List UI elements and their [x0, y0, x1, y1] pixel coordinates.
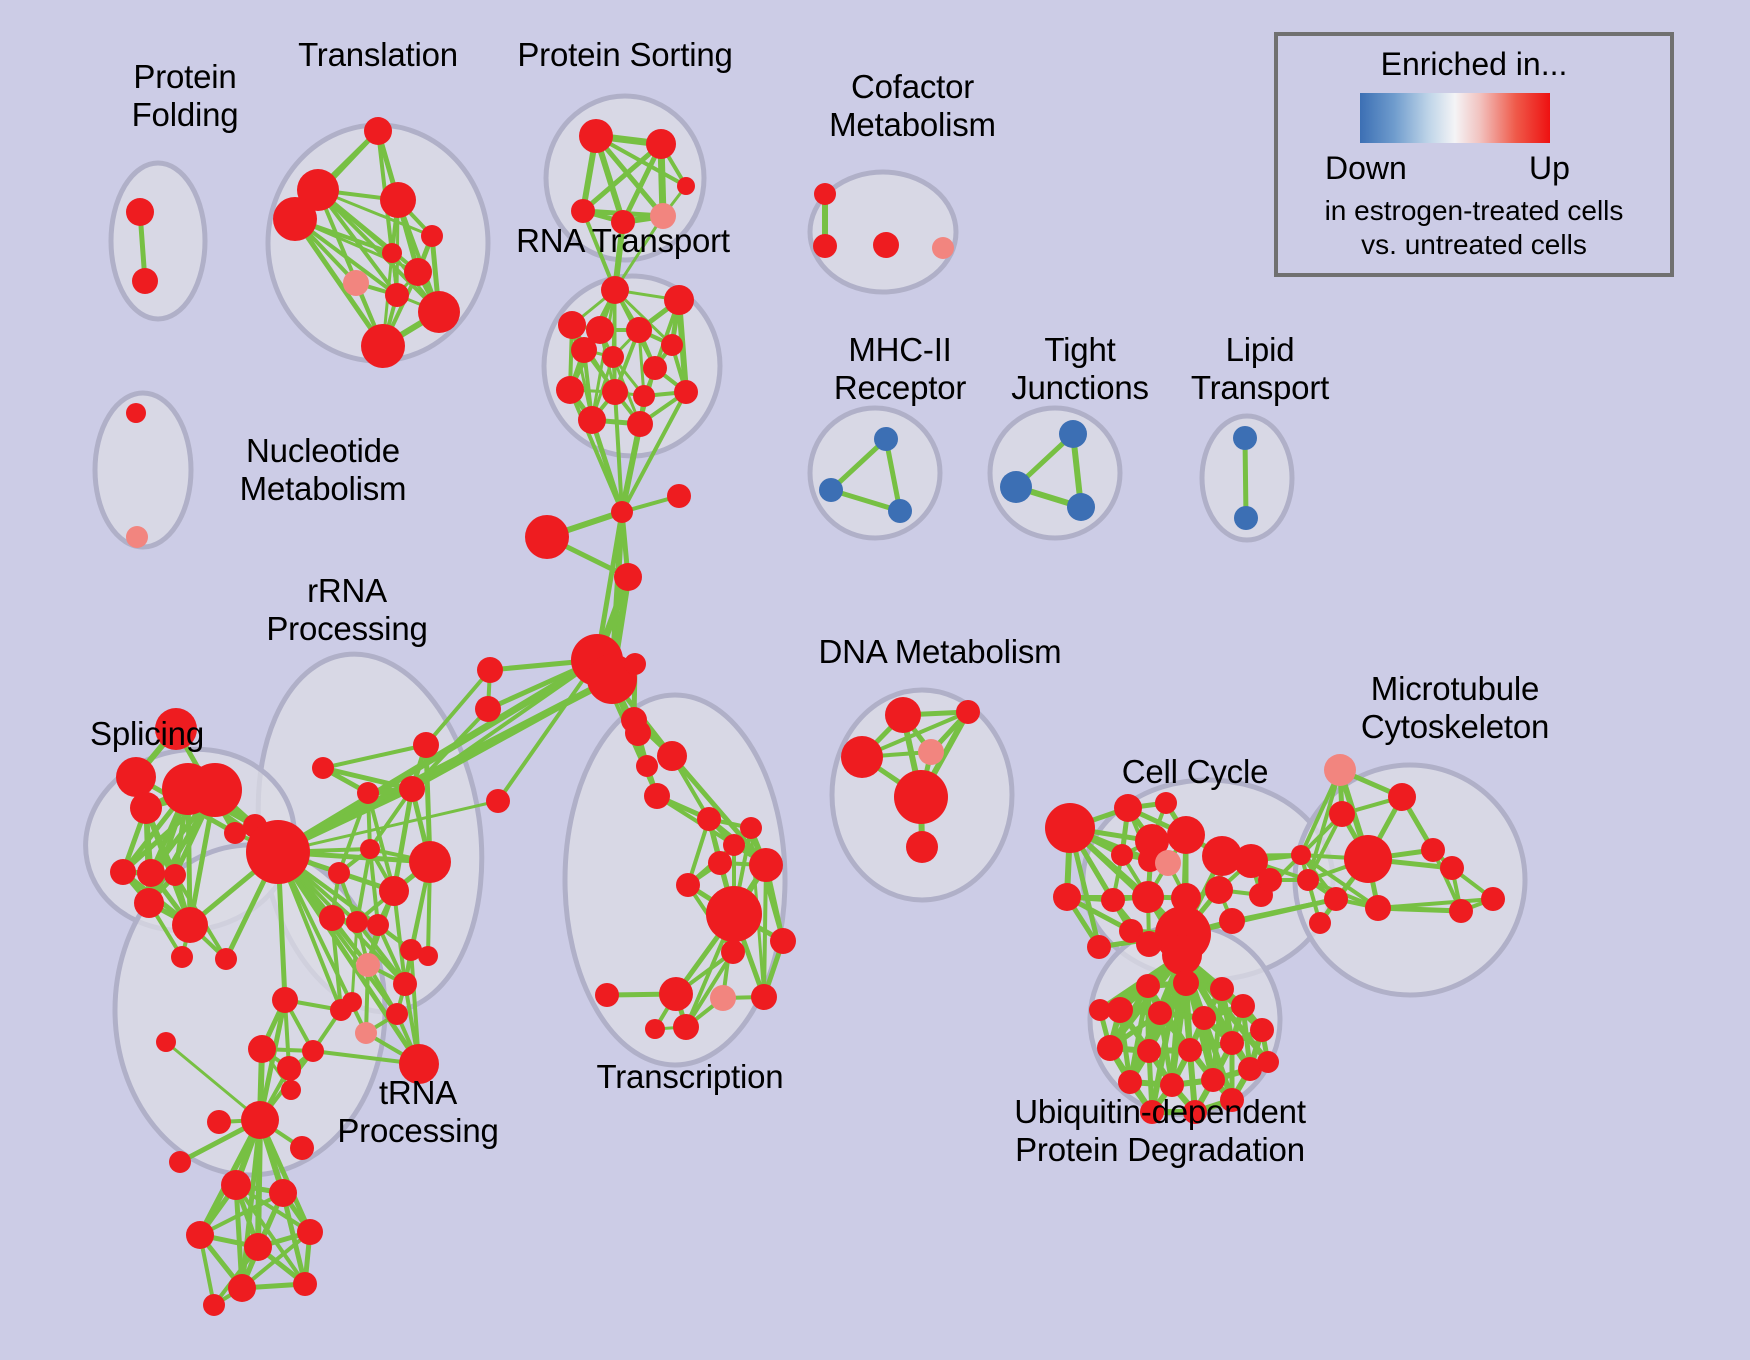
- legend-up-label: Up: [1529, 150, 1570, 187]
- node-ub2[interactable]: [1136, 974, 1160, 998]
- cluster-label-nucleotide: Nucleotide Metabolism: [198, 432, 448, 508]
- cluster-label-rrna-processing: rRNA Processing: [237, 572, 457, 648]
- node-mt5[interactable]: [1421, 838, 1445, 862]
- node-rr25[interactable]: [413, 732, 439, 758]
- node-ub6[interactable]: [1148, 1001, 1172, 1025]
- node-sp5[interactable]: [110, 859, 136, 885]
- node-rt7[interactable]: [571, 337, 597, 363]
- node-tj1[interactable]: [1059, 420, 1087, 448]
- node-tr6[interactable]: [244, 1233, 272, 1261]
- node-t9[interactable]: [385, 283, 409, 307]
- cluster-label-dna-metabolism: DNA Metabolism: [815, 633, 1065, 671]
- cluster-label-splicing: Splicing: [57, 715, 237, 753]
- node-tr1[interactable]: [241, 1101, 279, 1139]
- node-tr8[interactable]: [228, 1274, 256, 1302]
- node-rt14[interactable]: [578, 406, 606, 434]
- node-cf3[interactable]: [873, 232, 899, 258]
- node-dm5[interactable]: [894, 770, 948, 824]
- node-rr3[interactable]: [399, 776, 425, 802]
- node-cf4[interactable]: [932, 237, 954, 259]
- node-ub9[interactable]: [1097, 1035, 1123, 1061]
- node-ub3[interactable]: [1173, 970, 1199, 996]
- node-mt6[interactable]: [1291, 845, 1311, 865]
- node-sp4[interactable]: [164, 864, 186, 886]
- node-tx5[interactable]: [676, 873, 700, 897]
- node-tj3[interactable]: [1067, 493, 1095, 521]
- node-rr24[interactable]: [277, 1056, 301, 1080]
- node-rt2[interactable]: [664, 285, 694, 315]
- node-sp14[interactable]: [171, 946, 193, 968]
- node-ps3[interactable]: [571, 199, 595, 223]
- cluster-label-mhc-ii: MHC-II Receptor: [795, 331, 1005, 407]
- node-rr16[interactable]: [355, 1022, 377, 1044]
- node-cc15[interactable]: [1205, 876, 1233, 904]
- node-ps6[interactable]: [677, 177, 695, 195]
- node-tr9[interactable]: [293, 1272, 317, 1296]
- node-rr13[interactable]: [393, 972, 417, 996]
- network-figure: Protein FoldingTranslationProtein Sortin…: [0, 0, 1750, 1360]
- node-ub7[interactable]: [1192, 1006, 1216, 1030]
- node-m3[interactable]: [667, 484, 691, 508]
- node-rr18[interactable]: [272, 987, 298, 1013]
- node-rr9[interactable]: [346, 911, 368, 933]
- node-rr26[interactable]: [342, 992, 362, 1012]
- node-cf1[interactable]: [814, 183, 836, 205]
- node-m7[interactable]: [477, 657, 503, 683]
- node-rr14[interactable]: [418, 946, 438, 966]
- node-tr11[interactable]: [207, 1110, 231, 1134]
- node-t10[interactable]: [418, 291, 460, 333]
- node-tx11[interactable]: [751, 984, 777, 1010]
- node-rt8[interactable]: [602, 346, 624, 368]
- legend-subtitle: in estrogen-treated cells vs. untreated …: [1278, 194, 1670, 262]
- node-lt1[interactable]: [1233, 426, 1257, 450]
- node-tx15[interactable]: [645, 1019, 665, 1039]
- node-tx4[interactable]: [706, 886, 762, 942]
- node-rr15[interactable]: [386, 1003, 408, 1025]
- node-cc6[interactable]: [1167, 816, 1205, 854]
- node-cc2[interactable]: [1053, 883, 1081, 911]
- node-dm4[interactable]: [918, 739, 944, 765]
- node-tx16[interactable]: [657, 741, 687, 771]
- node-tr7[interactable]: [297, 1219, 323, 1245]
- node-mt3[interactable]: [1329, 801, 1355, 827]
- node-mh3[interactable]: [888, 499, 912, 523]
- node-tj2[interactable]: [1000, 471, 1032, 503]
- node-mt1[interactable]: [1324, 754, 1356, 786]
- node-rt5[interactable]: [661, 334, 683, 356]
- node-t6[interactable]: [382, 243, 402, 263]
- node-ub13[interactable]: [1250, 1018, 1274, 1042]
- node-mt8[interactable]: [1324, 887, 1348, 911]
- cluster-label-trna-processing: tRNA Processing: [308, 1074, 528, 1150]
- node-rt10[interactable]: [556, 376, 584, 404]
- node-mt9[interactable]: [1365, 895, 1391, 921]
- node-tx18[interactable]: [624, 653, 646, 675]
- node-ub1[interactable]: [1162, 935, 1202, 975]
- cluster-label-tight-junctions: Tight Junctions: [980, 331, 1180, 407]
- node-t11[interactable]: [361, 324, 405, 368]
- cluster-label-transcription: Transcription: [575, 1058, 805, 1096]
- node-rr1[interactable]: [312, 757, 334, 779]
- node-sp13[interactable]: [215, 948, 237, 970]
- node-mh1[interactable]: [874, 427, 898, 451]
- node-m12[interactable]: [644, 783, 670, 809]
- node-rr23[interactable]: [248, 1035, 276, 1063]
- node-rt4[interactable]: [626, 317, 652, 343]
- node-rt13[interactable]: [674, 380, 698, 404]
- node-t3[interactable]: [380, 182, 416, 218]
- node-mh2[interactable]: [819, 478, 843, 502]
- node-tx14[interactable]: [710, 985, 736, 1011]
- node-tx2[interactable]: [708, 851, 732, 875]
- node-sp2[interactable]: [116, 757, 156, 797]
- node-tr10[interactable]: [156, 1032, 176, 1052]
- node-mt10[interactable]: [1440, 856, 1464, 880]
- node-ub8[interactable]: [1231, 994, 1255, 1018]
- node-t5[interactable]: [421, 225, 443, 247]
- node-tx3[interactable]: [749, 848, 783, 882]
- node-cc21[interactable]: [1136, 931, 1162, 957]
- node-sp10[interactable]: [172, 907, 208, 943]
- legend-color-gradient: [1360, 93, 1550, 143]
- node-dm1[interactable]: [885, 697, 921, 733]
- node-cc12[interactable]: [1101, 888, 1125, 912]
- node-rt9[interactable]: [643, 356, 667, 380]
- node-tr2[interactable]: [169, 1151, 191, 1173]
- node-mt12[interactable]: [1481, 887, 1505, 911]
- legend-down-label: Down: [1325, 150, 1407, 187]
- node-rr6[interactable]: [409, 841, 451, 883]
- node-dm3[interactable]: [841, 736, 883, 778]
- cluster-ellipse-protein-folding: [111, 163, 205, 319]
- node-mt11[interactable]: [1449, 899, 1473, 923]
- cluster-label-ubiquitin: Ubiquitin-dependent Protein Degradation: [995, 1093, 1325, 1169]
- node-tx9[interactable]: [721, 940, 745, 964]
- node-tx10[interactable]: [659, 977, 693, 1011]
- node-cc19[interactable]: [1219, 908, 1245, 934]
- node-tx7[interactable]: [723, 834, 745, 856]
- cluster-label-rna-transport: RNA Transport: [498, 222, 748, 260]
- node-ub14[interactable]: [1118, 1070, 1142, 1094]
- node-ub4[interactable]: [1210, 977, 1234, 1001]
- node-t7[interactable]: [404, 258, 432, 286]
- node-cc1[interactable]: [1045, 803, 1095, 853]
- node-cc4[interactable]: [1155, 792, 1177, 814]
- cluster-ellipse-mhc-ii: [810, 408, 940, 538]
- node-m11[interactable]: [636, 755, 658, 777]
- node-tr4[interactable]: [269, 1179, 297, 1207]
- node-rr19[interactable]: [302, 1040, 324, 1062]
- node-tr13[interactable]: [203, 1294, 225, 1316]
- node-mt4[interactable]: [1344, 835, 1392, 883]
- node-nu1[interactable]: [126, 403, 146, 423]
- node-rt12[interactable]: [633, 385, 655, 407]
- cluster-label-protein-sorting: Protein Sorting: [500, 36, 750, 74]
- node-sp15[interactable]: [246, 820, 310, 884]
- legend-title: Enriched in...: [1278, 46, 1670, 83]
- node-m1[interactable]: [525, 515, 569, 559]
- node-t4[interactable]: [273, 197, 317, 241]
- node-cc3[interactable]: [1114, 794, 1142, 822]
- node-lt2[interactable]: [1234, 506, 1258, 530]
- node-nu2[interactable]: [126, 526, 148, 548]
- node-ub11[interactable]: [1178, 1038, 1202, 1062]
- node-rt11[interactable]: [602, 379, 628, 405]
- node-t8[interactable]: [343, 270, 369, 296]
- node-cc22[interactable]: [1258, 868, 1282, 892]
- node-sp6[interactable]: [137, 859, 165, 887]
- node-tx8[interactable]: [770, 928, 796, 954]
- node-tr3[interactable]: [221, 1170, 251, 1200]
- node-rr4[interactable]: [360, 839, 380, 859]
- cluster-label-cofactor: Cofactor Metabolism: [795, 68, 1030, 144]
- node-ps2[interactable]: [646, 129, 676, 159]
- cluster-label-translation: Translation: [268, 36, 488, 74]
- node-sp8[interactable]: [188, 763, 242, 817]
- node-tx1[interactable]: [697, 807, 721, 831]
- node-cc20[interactable]: [1087, 935, 1111, 959]
- node-cc9[interactable]: [1111, 844, 1133, 866]
- node-pf1[interactable]: [126, 198, 154, 226]
- node-rr22[interactable]: [281, 1080, 301, 1100]
- node-cc11[interactable]: [1155, 850, 1181, 876]
- node-cf2[interactable]: [813, 234, 837, 258]
- node-tr5[interactable]: [186, 1221, 214, 1249]
- node-m4[interactable]: [614, 563, 642, 591]
- edge: [1245, 438, 1246, 518]
- node-dm2[interactable]: [956, 700, 980, 724]
- node-tx12[interactable]: [595, 983, 619, 1007]
- node-mt13[interactable]: [1309, 912, 1331, 934]
- node-ub22[interactable]: [1257, 1051, 1279, 1073]
- cluster-label-cell-cycle: Cell Cycle: [1105, 753, 1285, 791]
- cluster-label-microtubule: Microtubule Cytoskeleton: [1310, 670, 1600, 746]
- node-rt1[interactable]: [601, 276, 629, 304]
- node-rt15[interactable]: [627, 411, 653, 437]
- node-ub21[interactable]: [1089, 999, 1111, 1021]
- node-sp11[interactable]: [134, 888, 164, 918]
- node-ps1[interactable]: [579, 119, 613, 153]
- node-rr8[interactable]: [319, 905, 345, 931]
- cluster-label-protein-folding: Protein Folding: [85, 58, 285, 134]
- cluster-label-lipid-transport: Lipid Transport: [1160, 331, 1360, 407]
- node-ub10[interactable]: [1137, 1039, 1161, 1063]
- node-m2[interactable]: [611, 501, 633, 523]
- node-ub12[interactable]: [1220, 1031, 1244, 1055]
- node-mt2[interactable]: [1388, 783, 1416, 811]
- node-rr7[interactable]: [379, 876, 409, 906]
- node-sp9[interactable]: [130, 792, 162, 824]
- node-mt7[interactable]: [1297, 869, 1319, 891]
- node-tx17[interactable]: [621, 707, 647, 733]
- node-pf2[interactable]: [132, 268, 158, 294]
- node-rr10[interactable]: [367, 914, 389, 936]
- legend: Enriched in... Down Up in estrogen-treat…: [1274, 32, 1674, 277]
- node-cc13[interactable]: [1132, 881, 1164, 913]
- node-m9[interactable]: [486, 789, 510, 813]
- node-ub16[interactable]: [1201, 1068, 1225, 1092]
- node-rr5[interactable]: [328, 862, 350, 884]
- node-t1[interactable]: [364, 117, 392, 145]
- node-dm6[interactable]: [906, 831, 938, 863]
- node-rr2[interactable]: [357, 782, 379, 804]
- node-rr12[interactable]: [356, 953, 380, 977]
- node-tx6[interactable]: [740, 817, 762, 839]
- node-rt6[interactable]: [558, 311, 586, 339]
- node-m8[interactable]: [475, 696, 501, 722]
- node-tx13[interactable]: [673, 1014, 699, 1040]
- node-sp3[interactable]: [224, 822, 246, 844]
